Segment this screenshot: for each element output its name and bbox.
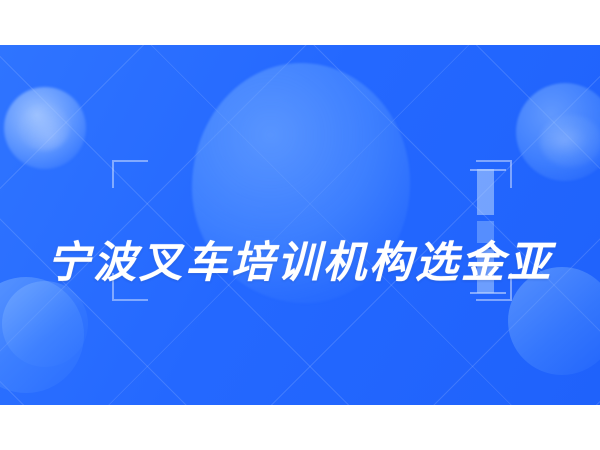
- tick-line-top: [470, 169, 506, 171]
- bracket-corner-top-left-icon: [112, 160, 148, 188]
- diagonal-grid-pattern: [0, 45, 600, 405]
- right-planet-texture: [540, 115, 600, 167]
- left-sphere-texture: [18, 103, 70, 151]
- bottom-left-blob-highlight: [2, 281, 88, 367]
- banner-title: 宁波叉车培训机构选金亚: [0, 237, 600, 291]
- banner-background: 宁波叉车培训机构选金亚: [0, 45, 600, 405]
- tick-line-bottom: [470, 292, 506, 294]
- vertical-bar-segment: [477, 169, 494, 215]
- right-planet-decoration: [516, 83, 600, 181]
- banner-canvas: 宁波叉车培训机构选金亚: [0, 0, 600, 450]
- bracket-corner-top-right-icon: [476, 160, 512, 188]
- left-sphere-decoration: [4, 87, 86, 169]
- bottom-left-blob-decoration: [0, 277, 84, 393]
